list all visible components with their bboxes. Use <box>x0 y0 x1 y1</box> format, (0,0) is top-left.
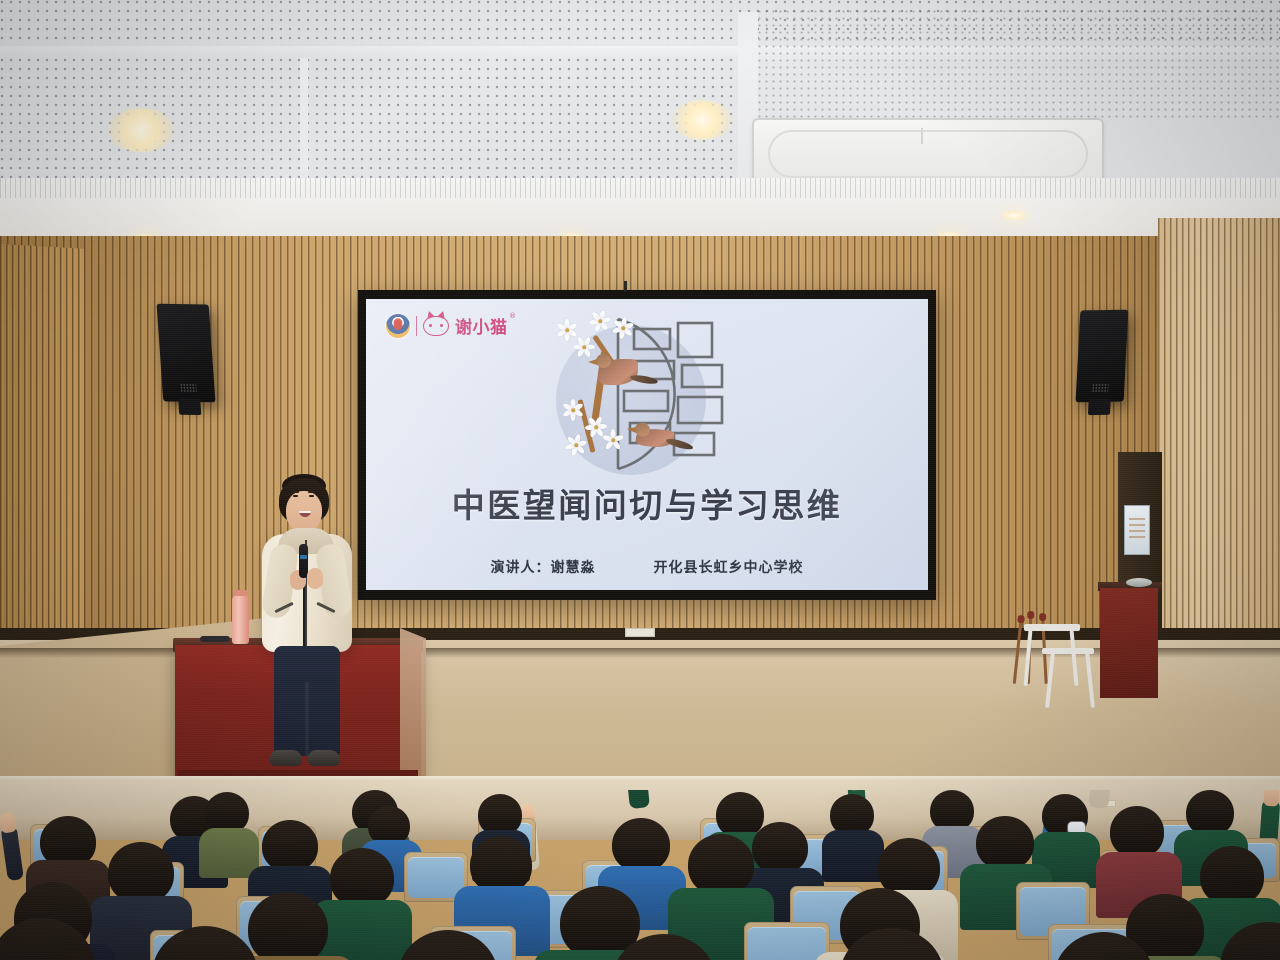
school-label: 开化县长虹乡中心学校 <box>654 557 804 577</box>
wall-sign <box>625 628 655 637</box>
bird-illustration <box>635 427 675 449</box>
thermos-flask <box>232 596 249 644</box>
shoe <box>270 750 302 766</box>
brand-name: 谢小猫® <box>455 313 508 338</box>
ceiling-downlight <box>672 100 732 140</box>
shoe <box>308 750 340 766</box>
step-stool <box>1022 624 1094 688</box>
organization-emblem-icon <box>386 314 410 338</box>
slide-title: 中医望闻问切与学习思维 <box>366 479 928 527</box>
ceiling-downlight <box>1003 211 1025 220</box>
blossom <box>566 435 586 455</box>
bird-illustration <box>598 359 638 385</box>
slide-brand-logo: 谢小猫® <box>386 313 508 338</box>
left-wall-return <box>0 244 84 669</box>
slide-artwork <box>544 303 776 485</box>
wall-poster <box>1124 505 1150 555</box>
blossom <box>604 431 622 449</box>
speaker-bracket <box>178 399 201 415</box>
cat-face-icon <box>423 316 449 336</box>
audience <box>0 790 1280 960</box>
speaker-grill-icon <box>180 384 197 393</box>
eyebrow <box>292 491 299 493</box>
ceiling <box>0 0 1280 262</box>
podium-items <box>200 636 230 642</box>
podium-side-face <box>400 628 426 789</box>
side-cabinet <box>1100 588 1158 698</box>
auditorium-photo: 谢小猫® <box>0 0 1280 960</box>
raised-hand <box>1 825 24 881</box>
speaker-bracket <box>1088 399 1111 415</box>
wall-speaker-left <box>156 304 215 403</box>
ceiling-panel <box>758 10 1280 118</box>
wall-speaker-right <box>1076 310 1129 403</box>
hand-right <box>307 568 323 589</box>
cat-eyes <box>424 324 448 327</box>
eyebrow <box>308 491 315 493</box>
blossom <box>562 399 584 421</box>
raised-hand <box>1088 790 1121 809</box>
blossom <box>588 309 612 333</box>
auditorium-seat[interactable] <box>744 922 830 960</box>
wall-slat-texture <box>0 244 84 669</box>
slide-subtitle: 演讲人：谢慧淼 开化县长虹乡中心学校 <box>366 557 928 577</box>
ceiling-downlight <box>108 108 174 152</box>
logo-divider <box>416 316 417 336</box>
presentation-slide: 谢小猫® <box>366 299 928 590</box>
blossom <box>612 317 634 339</box>
trousers <box>274 646 340 756</box>
presenter <box>252 478 362 800</box>
registered-mark: ® <box>509 312 517 320</box>
raised-hand <box>619 790 650 809</box>
speaker-grill-icon <box>1092 384 1109 393</box>
presenter-label: 演讲人：谢慧淼 <box>491 557 596 577</box>
soffit-trim-strip <box>0 178 1280 198</box>
ceiling-beam <box>300 58 308 182</box>
metal-bowl <box>1126 578 1152 587</box>
blossom <box>574 337 594 357</box>
projection-screen[interactable]: 谢小猫® <box>358 290 936 600</box>
